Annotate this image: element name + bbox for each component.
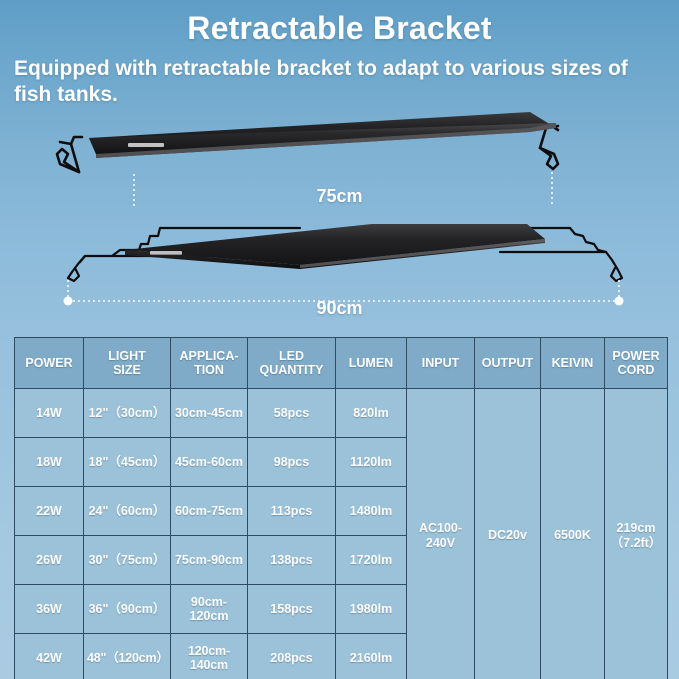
cell-light-size: 12"（30cm） [84, 389, 171, 438]
dimension-label-90cm: 90cm [0, 298, 679, 319]
header-input: INPUT [407, 338, 475, 389]
cell-power: 42W [15, 634, 84, 679]
cell-application: 90cm-120cm [171, 585, 248, 634]
cell-power-cord-merged: 219cm （7.2ft） [605, 389, 668, 679]
cell-lumen: 1720lm [336, 536, 407, 585]
cell-power: 36W [15, 585, 84, 634]
cell-lumen: 2160lm [336, 634, 407, 679]
cell-keivin-merged: 6500K [541, 389, 605, 679]
cell-lumen: 1480lm [336, 487, 407, 536]
cell-application: 45cm-60cm [171, 438, 248, 487]
header-output: OUTPUT [475, 338, 541, 389]
bracket-left-retracted [57, 137, 82, 172]
header-led-quantity: LED QUANTITY [248, 338, 336, 389]
cell-led-quantity: 98pcs [248, 438, 336, 487]
cell-light-size: 36"（90cm） [84, 585, 171, 634]
header-light-size: LIGHT SIZE [84, 338, 171, 389]
cell-light-size: 30"（75cm） [84, 536, 171, 585]
cell-power: 22W [15, 487, 84, 536]
bracket-right-retracted [540, 126, 558, 169]
cell-lumen: 1120lm [336, 438, 407, 487]
cell-led-quantity: 58pcs [248, 389, 336, 438]
cell-led-quantity: 158pcs [248, 585, 336, 634]
cell-input-merged: AC100- 240V [407, 389, 475, 679]
cell-power: 18W [15, 438, 84, 487]
cell-lumen: 820lm [336, 389, 407, 438]
cell-application: 30cm-45cm [171, 389, 248, 438]
cell-light-size: 24"（60cm） [84, 487, 171, 536]
header-application: APPLICA- TION [171, 338, 248, 389]
dimension-label-75cm: 75cm [0, 186, 679, 207]
specification-table: POWER LIGHT SIZE APPLICA- TION LED QUANT… [14, 337, 668, 679]
cell-application: 120cm-140cm [171, 634, 248, 679]
cell-led-quantity: 138pcs [248, 536, 336, 585]
cell-light-size: 18"（45cm） [84, 438, 171, 487]
cell-lumen: 1980lm [336, 585, 407, 634]
header-keivin: KEIVIN [541, 338, 605, 389]
page-title: Retractable Bracket [0, 10, 679, 47]
header-lumen: LUMEN [336, 338, 407, 389]
cell-application: 60cm-75cm [171, 487, 248, 536]
cell-led-quantity: 113pcs [248, 487, 336, 536]
brand-logo-2 [150, 251, 182, 255]
figure-extended-light-bar [0, 206, 679, 311]
cell-application: 75cm-90cm [171, 536, 248, 585]
infographic-page: Retractable Bracket Equipped with retrac… [0, 0, 679, 679]
cell-led-quantity: 208pcs [248, 634, 336, 679]
cell-power: 14W [15, 389, 84, 438]
brand-logo [128, 143, 164, 147]
cell-light-size: 48"（120cm） [84, 634, 171, 679]
table-header-row: POWER LIGHT SIZE APPLICA- TION LED QUANT… [15, 338, 668, 389]
cell-output-merged: DC20v [475, 389, 541, 679]
header-power-cord: POWER CORD [605, 338, 668, 389]
extended-bar-svg [0, 206, 679, 311]
cell-power: 26W [15, 536, 84, 585]
table-row: 14W 12"（30cm） 30cm-45cm 58pcs 820lm AC10… [15, 389, 668, 438]
header-power: POWER [15, 338, 84, 389]
